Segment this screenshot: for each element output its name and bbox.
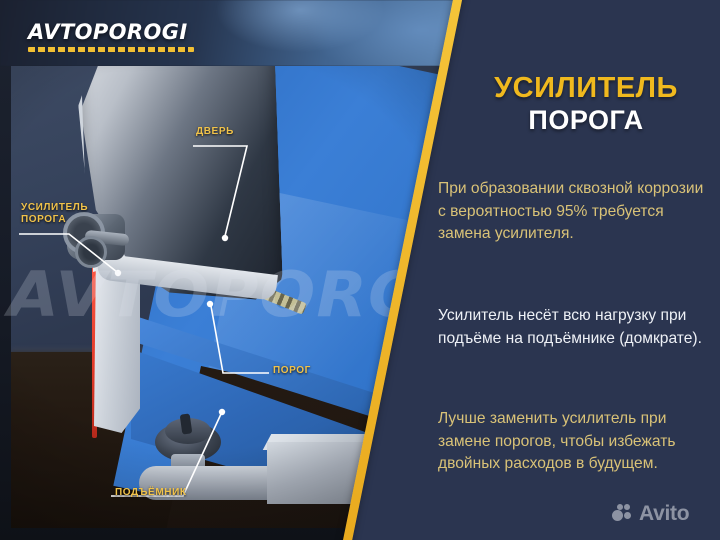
brand-logo-text: AVTOPOROGI	[28, 20, 194, 44]
paragraph-corrosion: При образовании сквозной коррозии с веро…	[438, 178, 714, 246]
product-infographic-poster: ДВЕРЬ УСИЛИТЕЛЬ ПОРОГА ПОРОГ ПОДЪЁМНИК A…	[0, 0, 720, 540]
title-line-2: ПОРОГА	[458, 104, 714, 136]
callout-label-sill: ПОРОГ	[273, 365, 311, 377]
callout-label-lift: ПОДЪЁМНИК	[115, 487, 187, 499]
brand-logo[interactable]: AVTOPOROGI	[28, 20, 194, 52]
paragraph-replacement: Лучше заменить усилитель при замене поро…	[438, 408, 714, 476]
paragraph-load: Усилитель несёт всю нагрузку при подъёме…	[438, 305, 714, 350]
text-content-pane: УСИЛИТЕЛЬ ПОРОГА При образовании сквозно…	[438, 0, 720, 540]
callout-label-door: ДВЕРЬ	[196, 126, 234, 138]
avito-wordmark: Avito	[639, 502, 689, 526]
avito-dots-icon	[612, 504, 634, 524]
title-line-1: УСИЛИТЕЛЬ	[458, 72, 714, 104]
page-title: УСИЛИТЕЛЬ ПОРОГА	[458, 72, 714, 136]
callout-label-reinforcement: УСИЛИТЕЛЬ ПОРОГА	[21, 202, 88, 226]
brand-logo-road-underline	[28, 47, 194, 52]
avito-watermark: Avito	[612, 502, 689, 526]
